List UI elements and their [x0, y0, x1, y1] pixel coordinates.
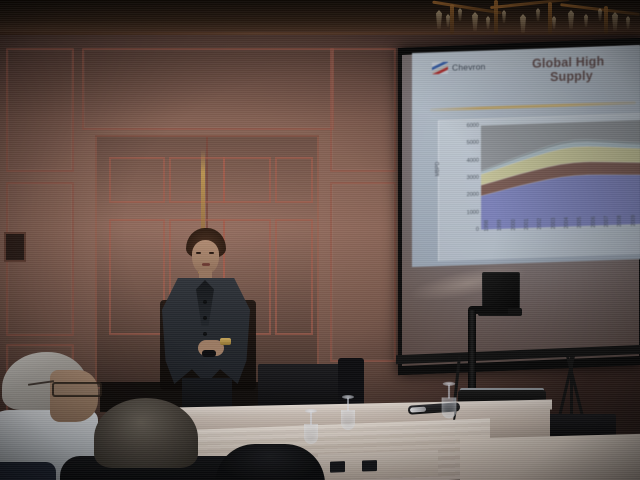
chart-x-ticks: 1998199920002001200220032004200520062007… — [481, 226, 640, 258]
podium-control-panel[interactable] — [318, 450, 438, 480]
chart-x-tick: 2003 — [551, 217, 557, 229]
chart-x-tick: 2000 — [511, 219, 517, 231]
door-panel — [109, 157, 165, 203]
chart-x-tick: 2002 — [537, 218, 543, 230]
chart-x-tick: 2008 — [617, 215, 623, 227]
chart-y-tick: 4000 — [441, 157, 479, 164]
wall-panel — [6, 48, 74, 172]
chart-y-tick: 5000 — [441, 140, 479, 147]
projected-slide: Chevron Global High Supply MBPD 01000200… — [412, 45, 640, 267]
wall-panel — [82, 48, 334, 130]
slide-title: Global High Supply — [532, 52, 640, 86]
chart-y-tick: 6000 — [441, 123, 479, 130]
panel-button[interactable] — [362, 460, 377, 472]
wall-panel — [330, 48, 396, 172]
presentation-remote[interactable] — [202, 350, 216, 357]
presenter-standing — [158, 228, 254, 420]
wall-panel — [330, 182, 396, 362]
audience-shoulder — [0, 462, 56, 480]
chart-x-tick: 2006 — [591, 216, 597, 228]
chart-y-ticks: 0100020003000400050006000 — [439, 126, 479, 231]
presenter-eye — [209, 252, 214, 254]
chart-x-tick: 2007 — [604, 216, 610, 228]
audience-head — [94, 398, 198, 468]
foreground-table-right — [460, 433, 640, 480]
jacket-button — [203, 316, 207, 320]
wristwatch — [220, 338, 231, 345]
panel-button[interactable] — [330, 461, 345, 473]
chart-y-tick: 2000 — [441, 192, 479, 199]
chart-x-tick: 1999 — [497, 219, 503, 231]
chevron-logo: Chevron — [432, 60, 486, 74]
jacket-button — [203, 300, 207, 304]
screenshot-root: Chevron Global High Supply MBPD 01000200… — [0, 0, 640, 480]
presenter-eye — [196, 252, 201, 254]
door-panel — [275, 219, 313, 335]
wine-glass[interactable] — [441, 391, 458, 427]
chart-x-tick: 1998 — [484, 220, 490, 232]
chart-x-tick: 2005 — [577, 217, 583, 229]
chart-y-tick: 0 — [441, 227, 479, 234]
door-panel — [223, 157, 271, 203]
chart-x-tick: 2004 — [564, 217, 570, 229]
slide-title-line2: Supply — [550, 66, 640, 85]
presenter-face — [192, 240, 219, 274]
chart-y-tick: 3000 — [441, 175, 479, 182]
projector-arm — [468, 310, 476, 396]
slide-divider-rule — [430, 101, 636, 111]
chart-x-tick: 2009 — [631, 215, 637, 227]
chart-plot — [481, 120, 640, 230]
chevron-wordmark: Chevron — [452, 61, 486, 72]
eyeglasses-icon — [52, 382, 102, 397]
chart-x-tick: 2001 — [524, 218, 530, 230]
chart-area: MBPD 0100020003000400050006000 199819992… — [438, 113, 640, 261]
door-panel — [169, 157, 225, 203]
jacket-button — [203, 332, 207, 336]
wine-glass[interactable] — [340, 404, 356, 438]
chart-area-svg — [481, 120, 640, 230]
wall-art — [4, 232, 26, 262]
door-panel — [275, 157, 313, 203]
chevron-hallmark-icon — [432, 62, 448, 75]
crystal-chandelier — [432, 0, 640, 36]
microphone-capsule — [410, 407, 426, 413]
slide-title-line1: Global High — [532, 54, 604, 71]
chart-y-tick: 1000 — [441, 209, 479, 216]
door-panel — [109, 219, 165, 335]
presenter-mouth — [202, 263, 210, 266]
av-equipment-case — [338, 358, 364, 408]
